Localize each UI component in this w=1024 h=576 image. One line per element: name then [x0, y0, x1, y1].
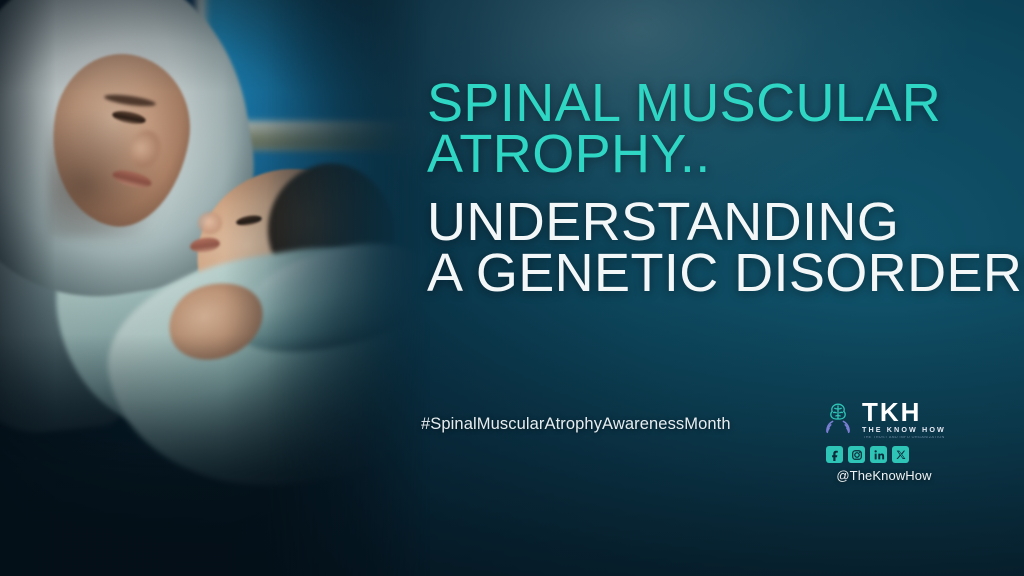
brain-in-hands-icon	[820, 399, 856, 439]
photo-vignette	[0, 0, 430, 576]
tkh-logo-block[interactable]: TKH THE KNOW HOW THE TRUST AND INFO ORGA…	[820, 398, 948, 483]
awareness-hashtag: #SpinalMuscularAtrophyAwarenessMonth	[421, 415, 731, 434]
x-twitter-icon[interactable]	[892, 446, 909, 463]
logo-wordmark: TKH THE KNOW HOW THE TRUST AND INFO ORGA…	[862, 398, 946, 439]
headline-block: SPINAL MUSCULAR ATROPHY.. UNDERSTANDING …	[427, 78, 967, 299]
logo-tagline: THE KNOW HOW	[862, 426, 946, 433]
poster-canvas: SPINAL MUSCULAR ATROPHY.. UNDERSTANDING …	[0, 0, 1024, 576]
logo-tkh-text: TKH	[862, 397, 921, 427]
headline-line-2: ATROPHY..	[427, 129, 967, 180]
logo-sub-tagline: THE TRUST AND INFO ORGANIZATION	[862, 436, 946, 440]
headline-line-1: SPINAL MUSCULAR	[427, 78, 967, 129]
instagram-icon[interactable]	[848, 446, 865, 463]
social-handle: @TheKnowHow	[820, 468, 948, 483]
photo-content	[0, 0, 430, 576]
social-icon-row	[820, 446, 948, 463]
facebook-icon[interactable]	[826, 446, 843, 463]
photo-feather-mask	[0, 0, 430, 576]
headline-line-3: UNDERSTANDING	[427, 197, 967, 248]
logo-lockup: TKH THE KNOW HOW THE TRUST AND INFO ORGA…	[820, 398, 948, 439]
headline-line-4: A GENETIC DISORDER!	[427, 248, 967, 299]
linkedin-icon[interactable]	[870, 446, 887, 463]
mother-and-baby-photo	[0, 0, 430, 576]
